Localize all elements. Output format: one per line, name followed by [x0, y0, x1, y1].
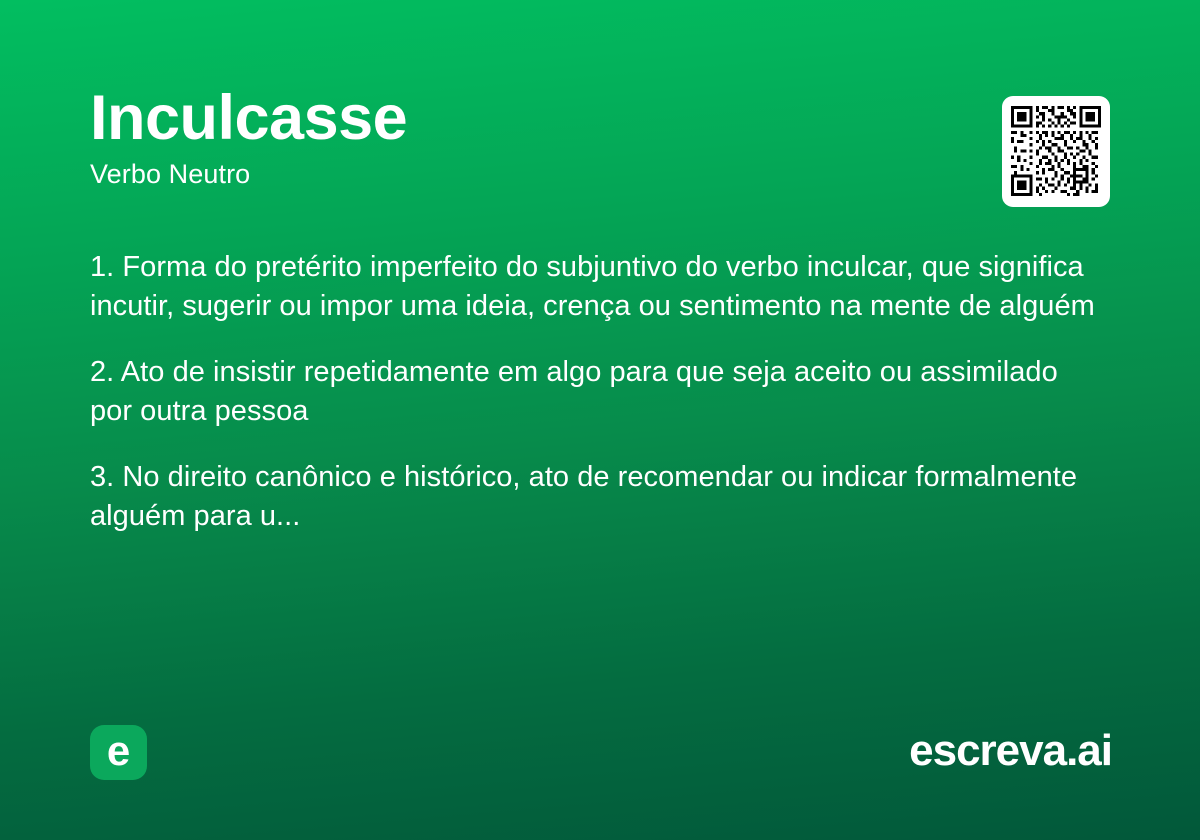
- list-item: 3. No direito canônico e histórico, ato …: [90, 458, 1102, 536]
- brand-logo: e: [90, 725, 147, 780]
- list-item: 2. Ato de insistir repetidamente em algo…: [90, 353, 1102, 431]
- list-item: 1. Forma do pretérito imperfeito do subj…: [90, 248, 1102, 326]
- page-title: Inculcasse: [90, 84, 1110, 152]
- qr-code-icon: [1011, 105, 1101, 197]
- qr-code-panel[interactable]: [1002, 96, 1110, 207]
- word-class-label: Verbo Neutro: [90, 158, 1110, 190]
- definition-list: 1. Forma do pretérito imperfeito do subj…: [90, 248, 1102, 536]
- card-header: Inculcasse Verbo Neutro: [90, 84, 1110, 190]
- brand-wordmark: escreva.ai: [909, 722, 1112, 780]
- dictionary-card: Inculcasse Verbo Neutro: [0, 0, 1200, 840]
- brand-logo-letter: e: [90, 725, 147, 780]
